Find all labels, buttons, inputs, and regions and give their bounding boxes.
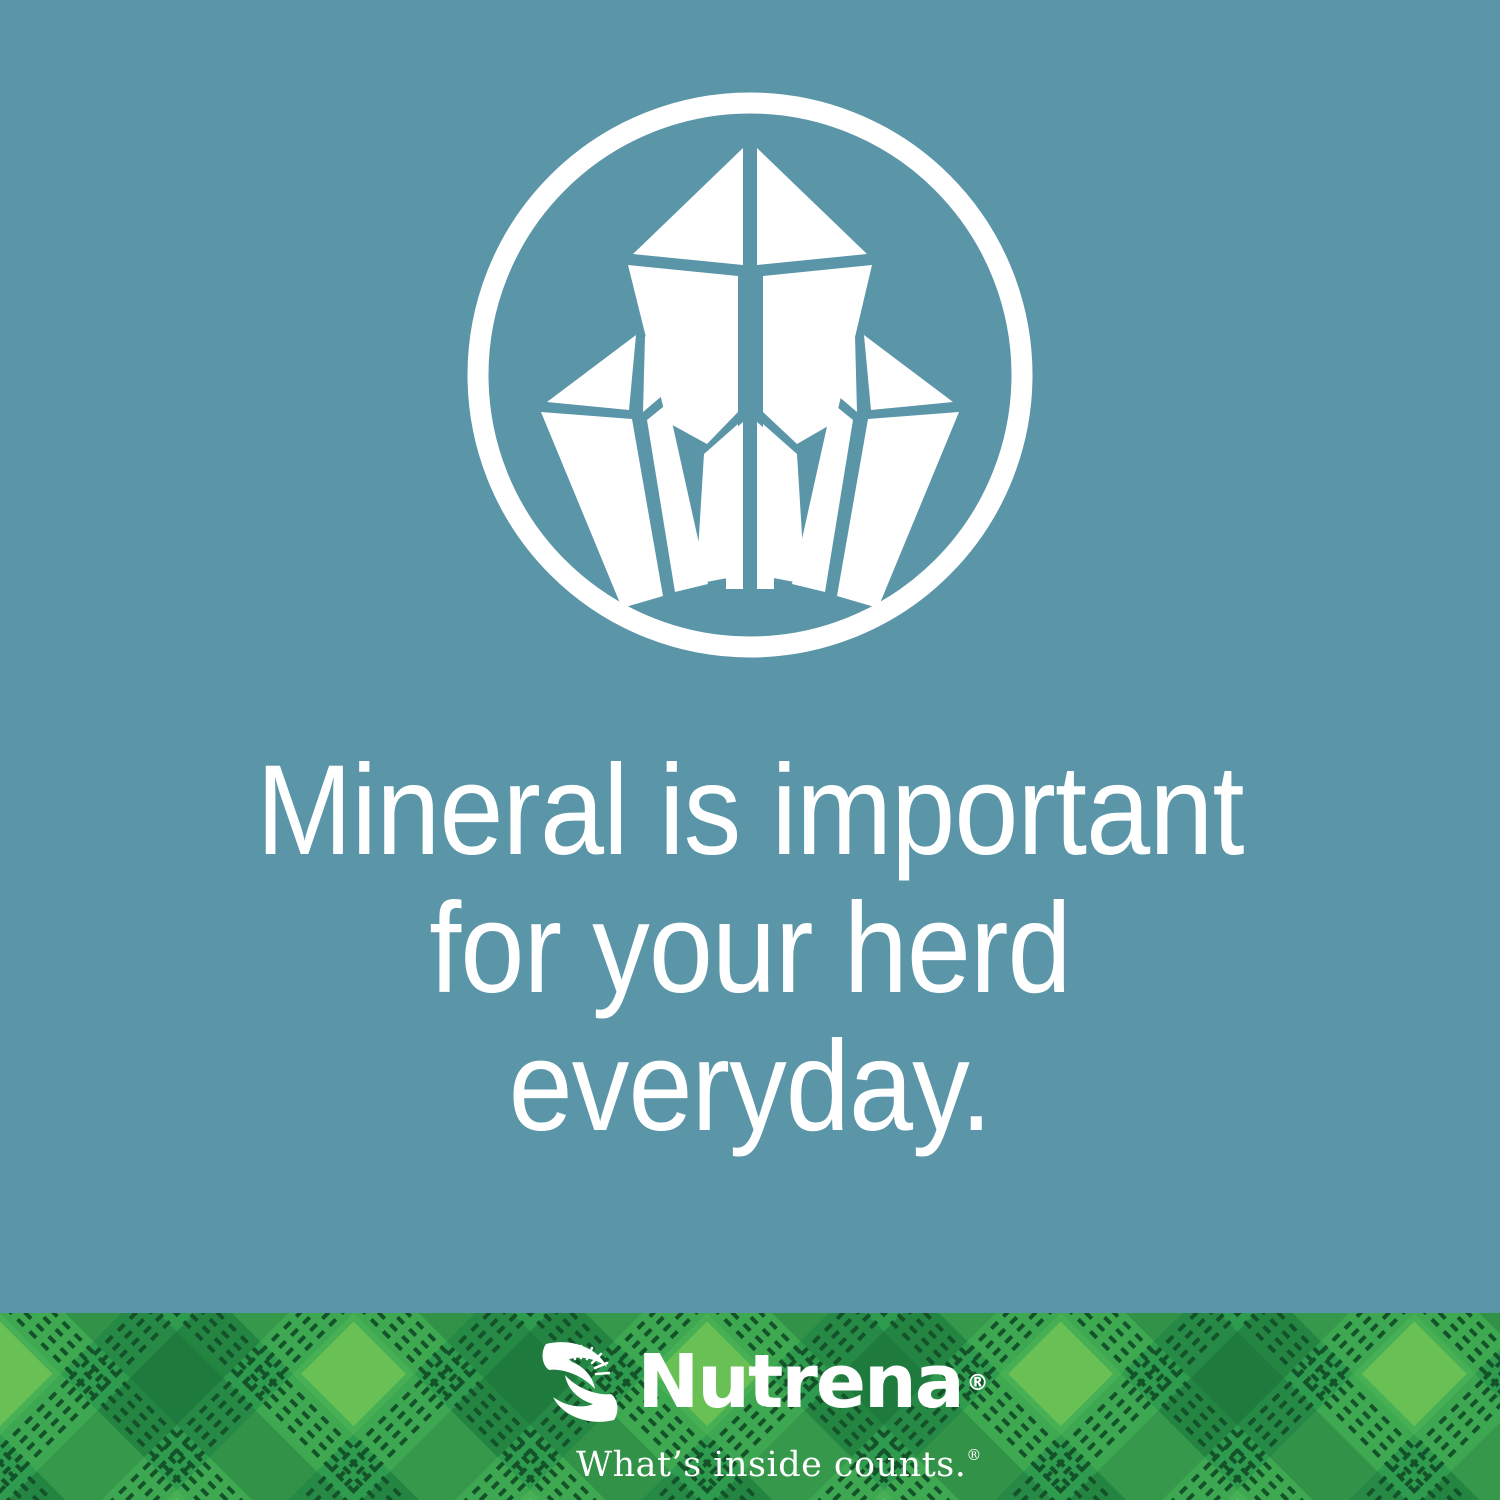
brand-mark-and-wordmark: Nutrena® — [537, 1334, 962, 1430]
headline-line-1: Mineral is important — [75, 742, 1425, 880]
registered-trademark-icon: ® — [967, 1347, 989, 1421]
footer-brand-bar: Nutrena® What’s inside counts.® — [0, 1313, 1500, 1500]
tagline-registered-trademark-icon: ® — [966, 1446, 982, 1464]
nutrena-leaf-flame-logo — [537, 1334, 623, 1430]
hero-icon-container — [0, 92, 1500, 662]
nutrena-wordmark-text: Nutrena — [637, 1339, 962, 1425]
headline: Mineral is important for your herd every… — [75, 742, 1425, 1156]
brand-lockup: Nutrena® What’s inside counts.® — [0, 1313, 1500, 1500]
headline-line-2: for your herd — [75, 880, 1425, 1018]
brand-tagline-text: What’s inside counts. — [576, 1445, 966, 1485]
nutrena-wordmark: Nutrena® — [637, 1345, 962, 1419]
social-media-card: Mineral is important for your herd every… — [0, 0, 1500, 1500]
headline-line-3: everyday. — [75, 1018, 1425, 1156]
brand-tagline: What’s inside counts.® — [576, 1436, 982, 1484]
mineral-crystals-in-circle-icon — [467, 92, 1033, 658]
